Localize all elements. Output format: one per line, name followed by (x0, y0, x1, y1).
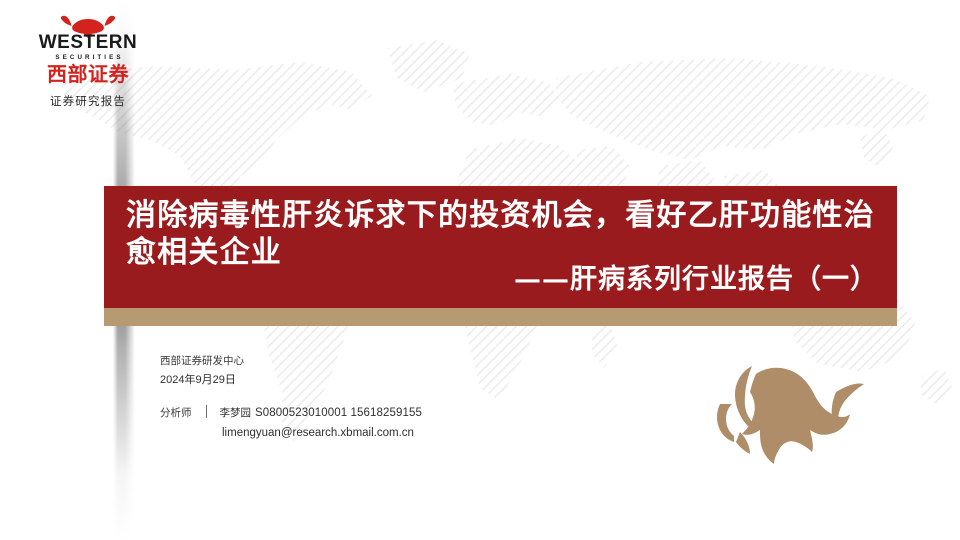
logo-caption: 证券研究报告 (24, 94, 152, 108)
footer-info: 西部证券研发中心 2024年9月29日 分析师 李梦园 S08005230100… (160, 352, 590, 443)
analyst-row: 分析师 李梦园 S0800523010001 15618259155 (160, 403, 590, 423)
footer-spacer (160, 390, 590, 403)
analyst-divider-icon (206, 405, 207, 418)
wordmark-english-wrap: WESTERN (24, 33, 152, 55)
wordmark-english: WESTERN (24, 33, 152, 53)
report-date: 2024年9月29日 (160, 371, 590, 390)
wordmark-chinese: 西部证券 (24, 63, 152, 86)
wordmark-english-sub: SECURITIES (24, 54, 152, 62)
report-cover-slide: WESTERN SECURITIES 西部证券 证券研究报告 消除病毒性肝炎诉求… (0, 0, 960, 540)
analyst-name: 李梦园 (220, 404, 252, 423)
report-subtitle: ——肝病系列行业报告（一） (126, 264, 878, 296)
report-title: 消除病毒性肝炎诉求下的投资机会，看好乙肝功能性治愈相关企业 (126, 197, 878, 271)
brand-logo: WESTERN SECURITIES 西部证券 证券研究报告 (24, 14, 152, 108)
analyst-codes: S0800523010001 15618259155 (255, 404, 422, 423)
analyst-label: 分析师 (160, 404, 192, 423)
institution-name: 西部证券研发中心 (160, 352, 590, 371)
title-banner: 消除病毒性肝炎诉求下的投资机会，看好乙肝功能性治愈相关企业 ——肝病系列行业报告… (104, 186, 897, 308)
accent-bar (104, 308, 897, 326)
bull-silhouette-icon (690, 352, 880, 470)
analyst-email: limengyuan@research.xbmail.com.cn (222, 423, 590, 443)
